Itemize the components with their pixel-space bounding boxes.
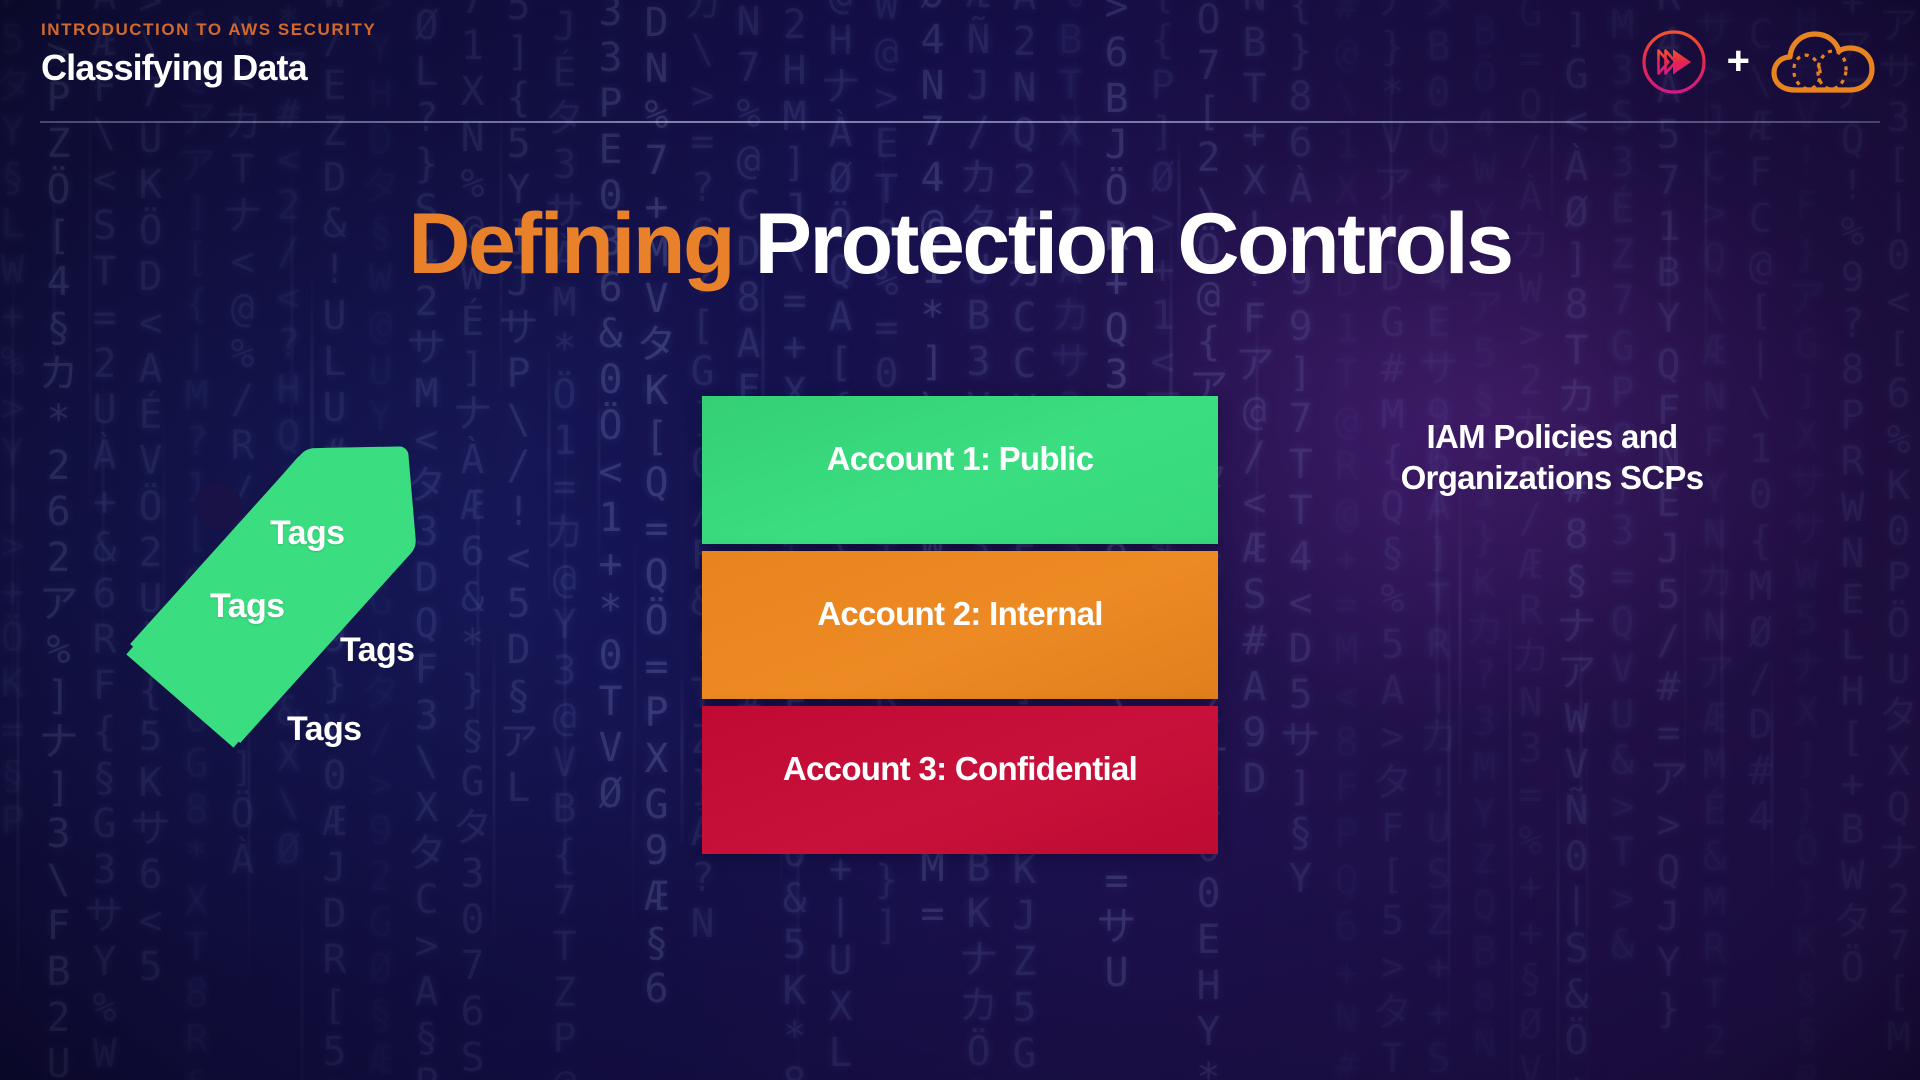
slide-title: Classifying Data: [41, 45, 376, 90]
slide-canvas: P 5 タ Y § L W + % > Y | > + Ö K = § P ! …: [0, 0, 1920, 1080]
tags-graphic: Tags Tags Tags Tags: [100, 390, 580, 870]
tag-label: Tags: [287, 710, 361, 748]
main-heading-accent: Defining: [408, 196, 733, 292]
course-eyebrow-label: INTRODUCTION TO AWS SECURITY: [41, 19, 376, 41]
caption-line-1: IAM Policies and: [1352, 416, 1752, 457]
main-heading: Defining Protection Controls: [0, 196, 1920, 292]
plus-separator: +: [1727, 41, 1750, 81]
header-text-group: INTRODUCTION TO AWS SECURITY Classifying…: [41, 19, 376, 90]
play-circle-icon: [1640, 28, 1708, 96]
main-heading-rest: Protection Controls: [733, 196, 1512, 292]
account-box-confidential: Account 3: Confidential: [702, 706, 1218, 854]
tag-label: Tags: [340, 631, 414, 669]
slide-header: INTRODUCTION TO AWS SECURITY Classifying…: [0, 0, 1920, 122]
tag-label: Tags: [210, 587, 284, 625]
cloud-outline-icon: [1769, 27, 1877, 97]
account-box-stack: Account 1: Public Account 2: Internal Ac…: [702, 396, 1218, 854]
tag-label: Tags: [270, 514, 344, 552]
account-box-public: Account 1: Public: [702, 396, 1218, 544]
account-box-internal: Account 2: Internal: [702, 551, 1218, 699]
caption-line-2: Organizations SCPs: [1352, 457, 1752, 498]
header-divider: [40, 121, 1880, 123]
iam-policies-caption: IAM Policies and Organizations SCPs: [1352, 416, 1752, 498]
logo-row: +: [1640, 20, 1877, 104]
tag-label-group: Tags Tags Tags Tags: [100, 390, 580, 870]
